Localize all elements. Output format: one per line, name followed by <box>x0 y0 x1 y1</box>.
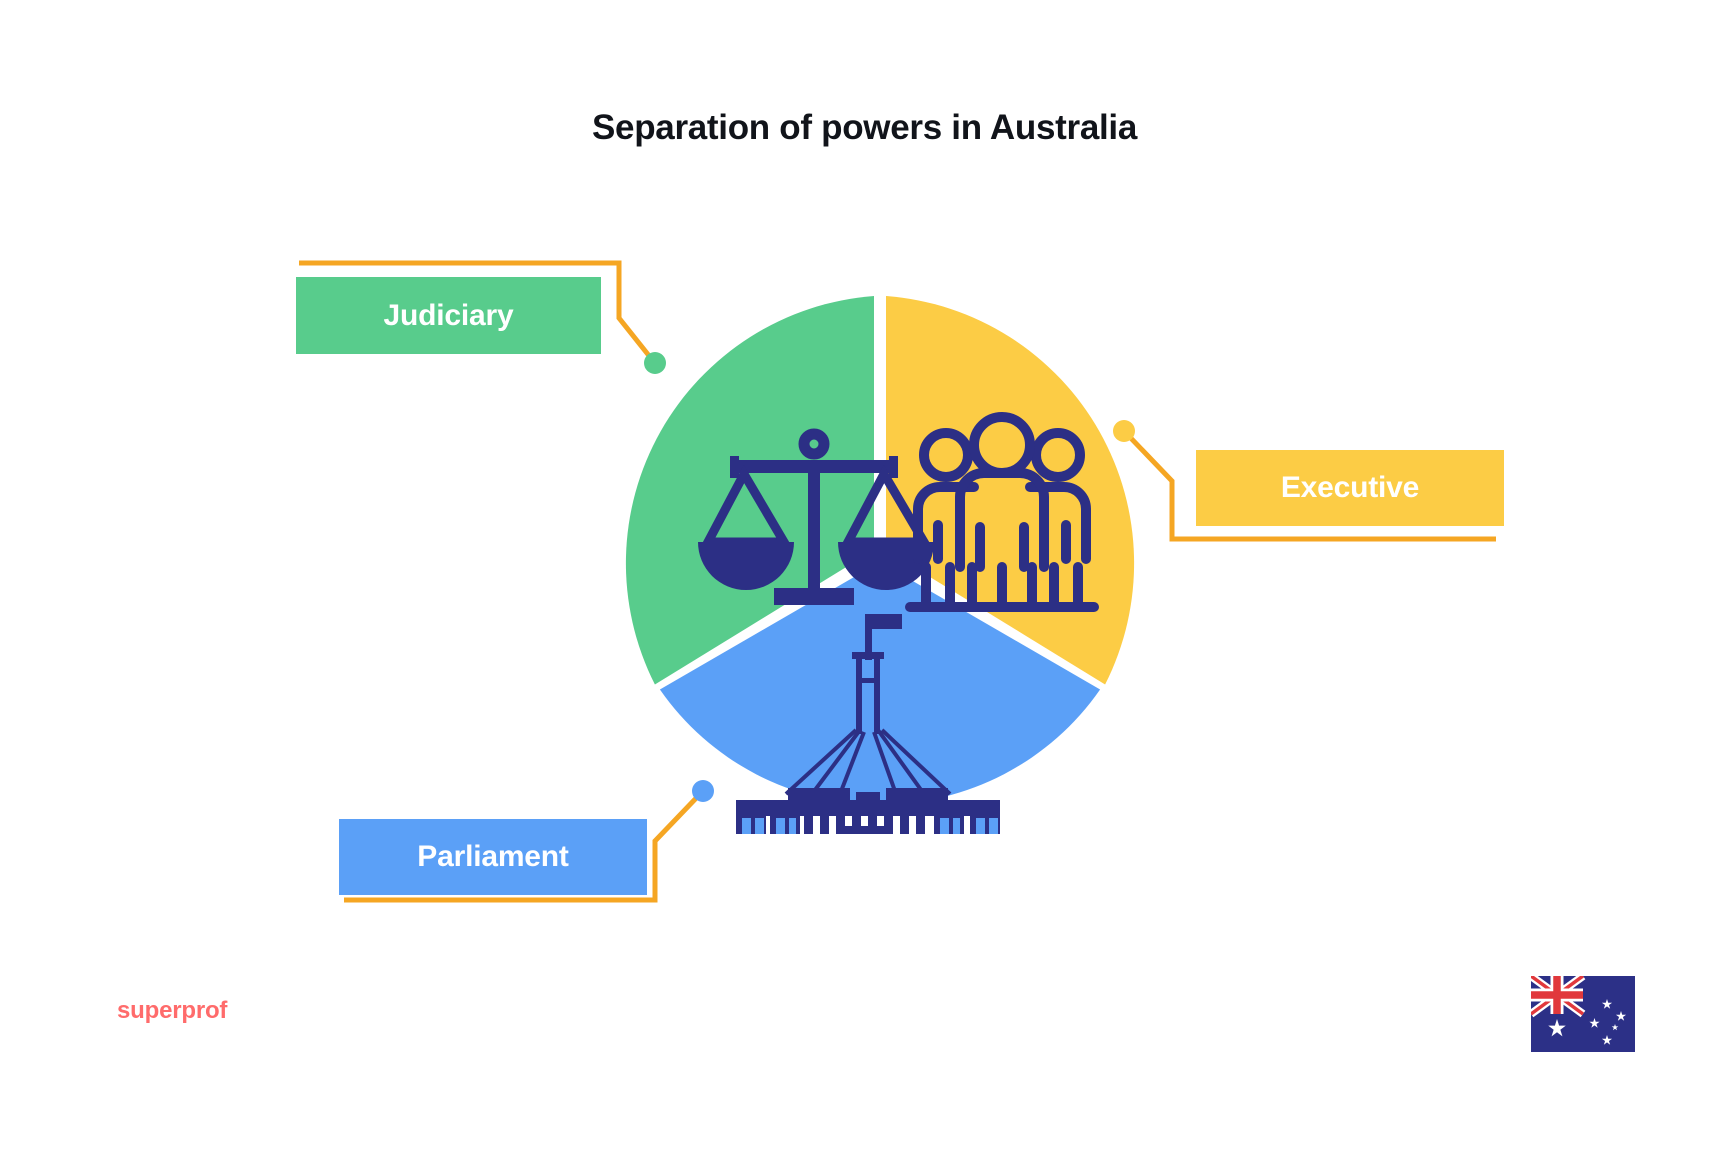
label-chip-parliament[interactable]: Parliament <box>339 819 647 895</box>
label-chip-executive[interactable]: Executive <box>1196 450 1504 526</box>
label-text-parliament: Parliament <box>417 840 568 874</box>
superprof-logo[interactable]: superprof <box>117 997 227 1025</box>
label-chip-judiciary[interactable]: Judiciary <box>296 277 601 354</box>
pie-chart <box>598 282 1150 834</box>
australian-flag-icon <box>1531 976 1635 1052</box>
page-title: Separation of powers in Australia <box>0 108 1729 148</box>
label-text-judiciary: Judiciary <box>384 299 514 333</box>
infographic-canvas: Separation of powers in Australia <box>0 0 1729 1153</box>
label-text-executive: Executive <box>1281 471 1419 505</box>
